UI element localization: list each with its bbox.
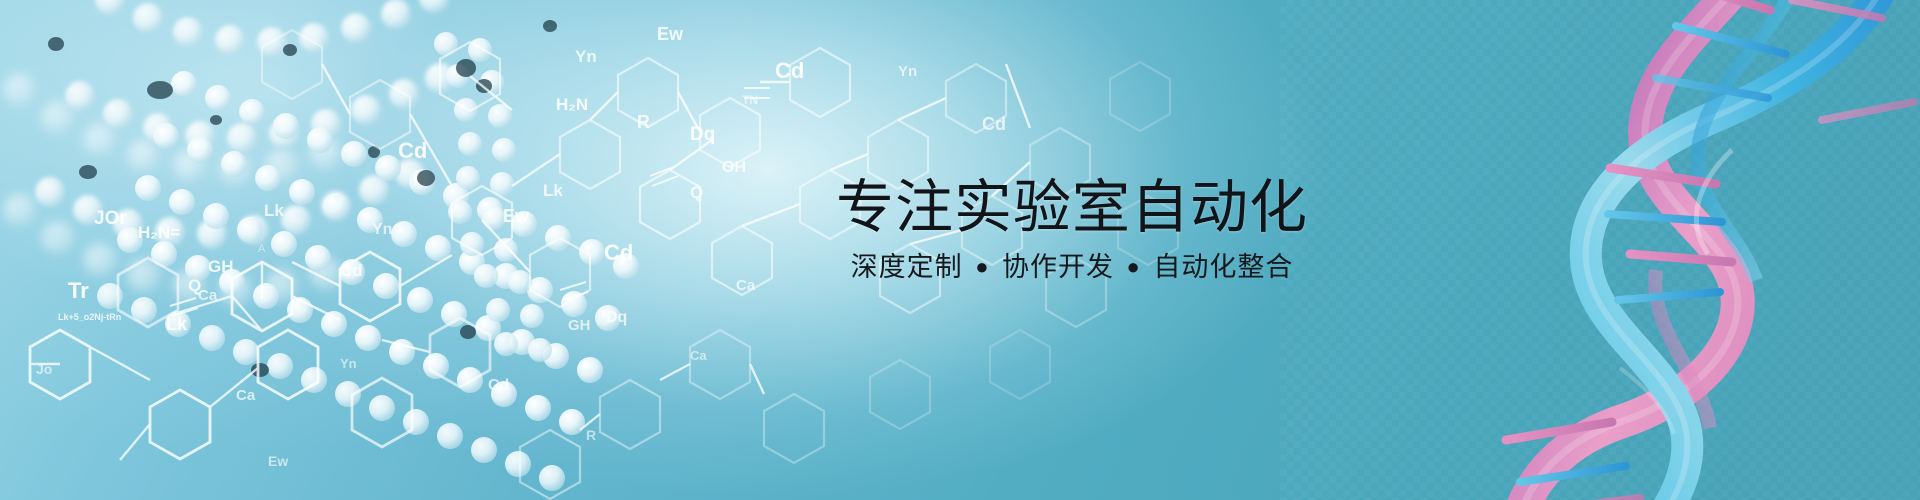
chem-label: JOr bbox=[94, 208, 127, 229]
bullet-separator-icon: ● bbox=[971, 254, 993, 279]
chem-label: Ca bbox=[690, 348, 707, 363]
chem-label: Yn bbox=[340, 356, 357, 371]
chem-label: A bbox=[258, 243, 266, 255]
chem-label: Lk bbox=[543, 181, 563, 200]
chem-label: Dq bbox=[606, 309, 627, 326]
subtitle-part-2: 协作开发 bbox=[1002, 252, 1114, 282]
subtitle-part-1: 深度定制 bbox=[851, 252, 963, 282]
chem-label: Cd bbox=[982, 114, 1006, 134]
chem-label: Cd bbox=[340, 261, 363, 280]
chem-label: TN bbox=[742, 93, 758, 107]
chem-label: H₂N bbox=[556, 95, 588, 114]
chem-label: Dq bbox=[690, 124, 715, 145]
banner-subtitle: 深度定制 ● 协作开发 ● 自动化整合 bbox=[752, 251, 1392, 283]
chem-label: Ew bbox=[268, 453, 288, 469]
chem-label: R bbox=[586, 427, 596, 443]
chem-label: Lk bbox=[166, 314, 188, 334]
chem-label: Cd bbox=[488, 377, 509, 394]
subtitle-part-3: 自动化整合 bbox=[1153, 252, 1293, 282]
chem-label: Ew bbox=[657, 24, 684, 44]
banner-copy: 专注实验室自动化 深度定制 ● 协作开发 ● 自动化整合 bbox=[752, 178, 1392, 284]
chem-label: H₂N= bbox=[138, 223, 180, 242]
chem-label: Cd bbox=[775, 58, 804, 83]
chem-label: Cd bbox=[604, 240, 633, 265]
chem-label: Lk+5_o2Nj-tRn bbox=[58, 312, 121, 322]
chem-label: OH bbox=[722, 159, 746, 176]
chem-label: Jo bbox=[36, 361, 52, 377]
chem-label: GH bbox=[568, 317, 591, 334]
chem-label: R bbox=[637, 112, 650, 132]
bullet-separator-icon: ● bbox=[1123, 254, 1145, 279]
chem-label: Lk bbox=[264, 201, 284, 220]
chem-label: Cd bbox=[398, 138, 427, 163]
hero-banner: CdEwYnYnH₂NDqRCdCdLkQEwCdYnLkCdCaGHTrJOr… bbox=[0, 0, 1920, 500]
chem-label: Yn bbox=[372, 221, 392, 238]
chem-label: Yn bbox=[575, 47, 597, 66]
chem-label: Ew bbox=[503, 206, 530, 226]
chem-label: Tr bbox=[68, 278, 89, 303]
chem-label: GH bbox=[208, 257, 234, 276]
chem-label: Q bbox=[690, 183, 703, 202]
chem-label: Ca bbox=[236, 387, 256, 404]
chem-label: Q bbox=[188, 276, 201, 295]
chem-label: Yn bbox=[898, 63, 917, 80]
ribbon-dna-helix-graphic bbox=[1470, 0, 1920, 500]
page-title: 专注实验室自动化 bbox=[752, 178, 1392, 237]
